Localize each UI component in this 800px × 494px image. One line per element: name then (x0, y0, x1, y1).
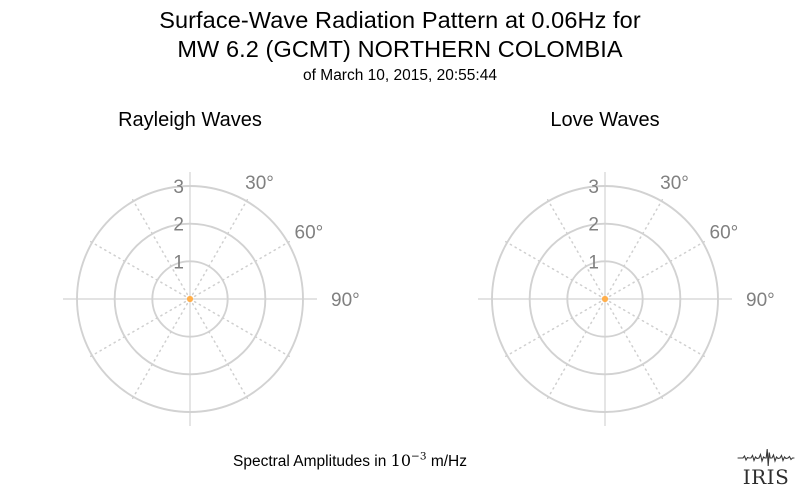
theta-tick-label-90: 90° (331, 290, 360, 311)
polar-grid-rayleigh: 12330°60°90° (15, 108, 365, 458)
r-tick-label-1: 1 (173, 252, 184, 273)
caption-base: 10 (391, 451, 411, 470)
figure-caption: Spectral Amplitudes in 10−3 m/Hz (0, 451, 700, 471)
r-tick-label-3: 3 (173, 177, 184, 198)
polar-spoke-30 (190, 198, 249, 299)
r-tick-label-2: 2 (173, 215, 184, 236)
polar-spoke-210 (547, 299, 606, 400)
polar-axes-love: 12330°60°90° (430, 108, 780, 458)
figure-subtitle: of March 10, 2015, 20:55:44 (0, 66, 800, 86)
iris-logo: IRIS (737, 447, 795, 489)
polar-spoke-60 (605, 241, 706, 300)
r-tick-label-1: 1 (588, 252, 599, 273)
polar-spoke-60 (190, 241, 291, 300)
origin-marker (187, 296, 193, 302)
polar-spoke-120 (190, 299, 291, 358)
figure-title-block: Surface-Wave Radiation Pattern at 0.06Hz… (0, 6, 800, 86)
polar-spoke-330 (132, 198, 191, 299)
caption-exponent: −3 (411, 451, 426, 463)
caption-units: m/Hz (427, 453, 467, 470)
r-tick-label-2: 2 (588, 215, 599, 236)
theta-tick-label-30: 30° (245, 173, 274, 194)
polar-spoke-120 (605, 299, 706, 358)
polar-spoke-150 (605, 299, 664, 400)
theta-tick-label-90: 90° (746, 290, 775, 311)
title-line-1: Surface-Wave Radiation Pattern at 0.06Hz… (0, 6, 800, 35)
r-tick-label-3: 3 (588, 177, 599, 198)
polar-spoke-330 (547, 198, 606, 299)
polar-spoke-30 (605, 198, 664, 299)
polar-spoke-240 (89, 299, 190, 358)
theta-tick-label-30: 30° (660, 173, 689, 194)
iris-logo-graphic: IRIS (737, 447, 795, 489)
theta-tick-label-60: 60° (710, 223, 739, 244)
caption-scale-factor: 10−3 (391, 451, 427, 470)
iris-wordmark: IRIS (743, 465, 790, 489)
polar-axes-rayleigh: 12330°60°90° (15, 108, 365, 458)
polar-spoke-210 (132, 299, 191, 400)
theta-tick-label-60: 60° (295, 223, 324, 244)
origin-marker (602, 296, 608, 302)
title-line-2: MW 6.2 (GCMT) NORTHERN COLOMBIA (0, 35, 800, 64)
caption-prefix: Spectral Amplitudes in (233, 453, 391, 470)
polar-spoke-240 (504, 299, 605, 358)
seismogram-trace-icon (738, 449, 794, 466)
polar-spoke-150 (190, 299, 249, 400)
polar-grid-love: 12330°60°90° (430, 108, 780, 458)
